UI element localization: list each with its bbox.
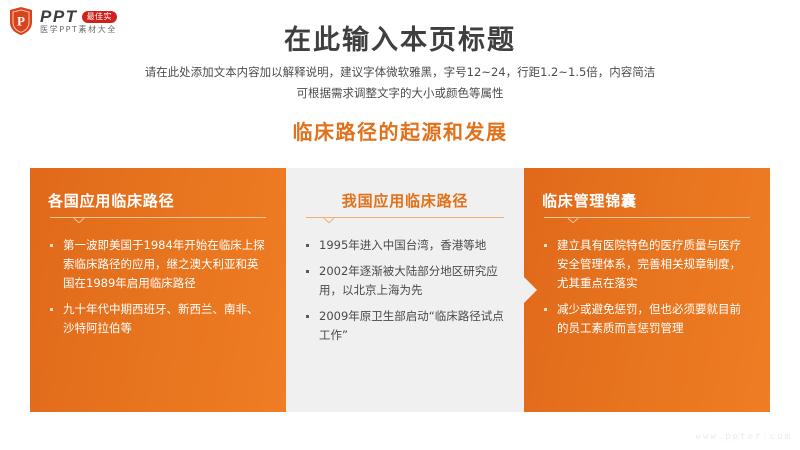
panel-row: 各国应用临床路径 第一波即美国于1984年开始在临床上探索临床路径的应用，继之澳… [30, 168, 770, 412]
heading-divider [304, 217, 506, 226]
watermark: www.ppter.com [696, 432, 792, 442]
panel-heading: 我国应用临床路径 [304, 190, 506, 211]
heading-divider [48, 217, 268, 226]
list-item: 1995年进入中国台湾，香港等地 [304, 236, 506, 255]
panel-bullet-list: 1995年进入中国台湾，香港等地 2002年逐渐被大陆部分地区研究应用，以北京上… [304, 236, 506, 345]
panel-heading: 临床管理锦囊 [542, 190, 752, 211]
panel-management: 临床管理锦囊 建立具有医院特色的医疗质量与医疗安全管理体系，完善相关规章制度，尤… [524, 168, 770, 412]
chevron-notch-left-icon [523, 276, 537, 304]
list-item: 第一波即美国于1984年开始在临床上探索临床路径的应用，继之澳大利亚和英国在19… [48, 236, 268, 293]
panel-bullet-list: 建立具有医院特色的医疗质量与医疗安全管理体系，完善相关规章制度，尤其重点在落实 … [542, 236, 752, 338]
list-item: 减少或避免惩罚，但也必须要就目前的员工素质而言惩罚管理 [542, 300, 752, 338]
section-title: 临床路径的起源和发展 [0, 116, 800, 145]
heading-divider [542, 217, 752, 226]
list-item: 建立具有医院特色的医疗质量与医疗安全管理体系，完善相关规章制度，尤其重点在落实 [542, 236, 752, 293]
chevron-notch-left-icon [286, 277, 299, 303]
panel-heading: 各国应用临床路径 [48, 190, 268, 211]
subtitle-line-2: 可根据需求调整文字的大小或颜色等属性 [0, 83, 800, 104]
list-item: 2002年逐渐被大陆部分地区研究应用，以北京上海为先 [304, 262, 506, 300]
list-item: 2009年原卫生部启动“临床路径试点工作” [304, 307, 506, 345]
panel-bullet-list: 第一波即美国于1984年开始在临床上探索临床路径的应用，继之澳大利亚和英国在19… [48, 236, 268, 338]
panel-countries: 各国应用临床路径 第一波即美国于1984年开始在临床上探索临床路径的应用，继之澳… [30, 168, 286, 412]
list-item: 九十年代中期西班牙、新西兰、南非、沙特阿拉伯等 [48, 300, 268, 338]
subtitle-line-1: 请在此处添加文本内容加以解释说明，建议字体微软雅黑，字号12~24，行距1.2~… [0, 62, 800, 83]
page-title: 在此输入本页标题 [0, 18, 800, 57]
panel-china: 我国应用临床路径 1995年进入中国台湾，香港等地 2002年逐渐被大陆部分地区… [286, 168, 524, 412]
subtitle-block: 请在此处添加文本内容加以解释说明，建议字体微软雅黑，字号12~24，行距1.2~… [0, 62, 800, 104]
